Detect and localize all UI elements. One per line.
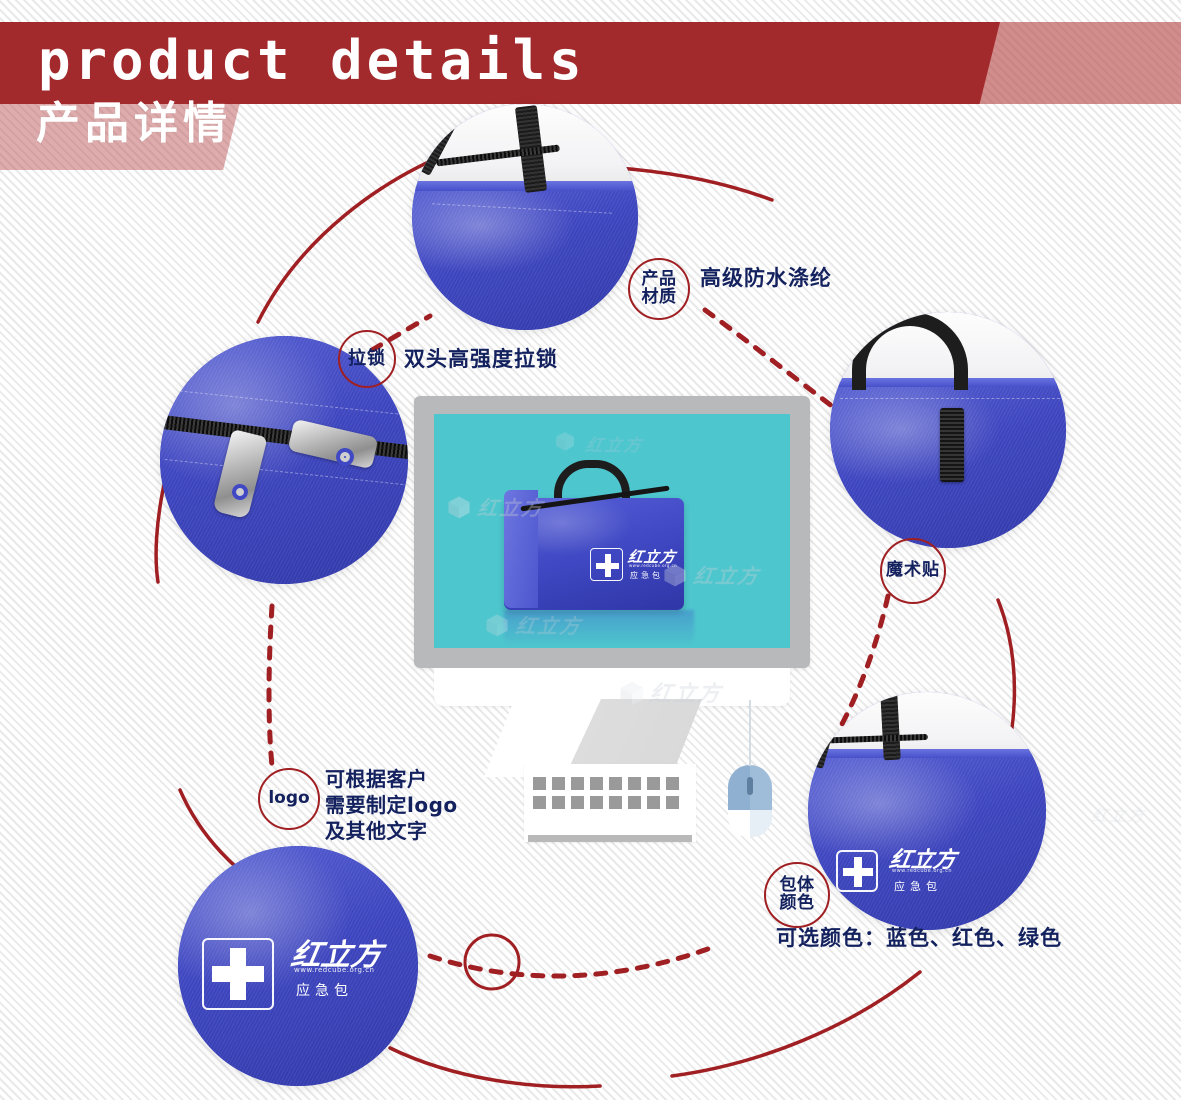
- brand-url: www.redcube.org.cn: [892, 868, 952, 874]
- medical-cross-icon: [836, 850, 878, 892]
- callout-text-material: 高级防水涤纶: [700, 268, 832, 289]
- mouse-right-button: [750, 765, 772, 810]
- keyboard-key: [552, 777, 565, 790]
- brand-subtitle: 应急包: [894, 878, 942, 894]
- handle-strap-right: [880, 692, 901, 760]
- keyboard-key: [533, 777, 546, 790]
- keyboard-key: [647, 777, 660, 790]
- keyboard-key: [571, 777, 584, 790]
- mouse-body-right: [750, 810, 772, 837]
- callout-text-logo-line2: 需要制定logo: [325, 792, 485, 818]
- medical-cross-icon: [590, 548, 623, 581]
- callout-text-zipper: 双头高强度拉锁: [404, 349, 558, 370]
- keyboard-key: [666, 777, 679, 790]
- brand-url: www.redcube.org.cn: [629, 563, 677, 568]
- keyboard-key: [666, 796, 679, 809]
- keyboard-key: [590, 796, 603, 809]
- keyboard-base: [528, 835, 692, 842]
- stitch-seam: [840, 398, 1060, 399]
- dash-logo-to-color: [430, 946, 716, 976]
- keyboard-key: [552, 796, 565, 809]
- bag-logo: 红立方 www.redcube.org.cn 应急包: [836, 838, 1022, 898]
- photo-logo-detail: 红立方 www.redcube.org.cn 应急包: [178, 846, 418, 1086]
- callout-bubble-material[interactable]: 产品 材质: [628, 258, 690, 320]
- mouse-body-left: [728, 810, 750, 837]
- callout-bubble-zipper[interactable]: 拉锁: [338, 330, 396, 388]
- watermark: 红立方: [554, 430, 643, 456]
- keyboard-key: [533, 796, 546, 809]
- keyboard-key: [628, 796, 641, 809]
- callout-bubble-velcro[interactable]: 魔术贴: [880, 538, 946, 604]
- bag-top-edge: [808, 749, 1046, 758]
- bag-logo: 红立方 www.redcube.org.cn 应急包: [202, 924, 402, 1004]
- keyboard: [524, 764, 696, 842]
- callout-bubble-logo-label: logo: [268, 790, 309, 808]
- computer-monitor: 红立方 www.redcube.org.cn 应急包 红立方 红立方: [414, 396, 810, 696]
- fabric-texture: [412, 185, 638, 330]
- brand-subtitle: 应急包: [296, 980, 353, 1000]
- brand-subtitle: 应急包: [630, 570, 663, 581]
- mouse-scroll-wheel: [747, 777, 753, 795]
- callout-bubble-logo[interactable]: logo: [258, 768, 320, 830]
- arc-upper-right: [618, 168, 772, 200]
- mouse-cable: [749, 700, 751, 766]
- product-details-page: product details 产品详情: [0, 0, 1181, 1100]
- brand-url: www.redcube.org.cn: [294, 966, 374, 974]
- dash-zipper-to-logo: [269, 606, 272, 766]
- keyboard-key: [609, 796, 622, 809]
- cube-icon: [554, 430, 580, 456]
- keyboard-key: [571, 796, 584, 809]
- medical-cross-icon: [202, 938, 274, 1010]
- bag-reflection: [504, 610, 694, 646]
- keyboard-key: [647, 796, 660, 809]
- bag-logo: 红立方 www.redcube.org.cn 应急包: [590, 546, 682, 584]
- photo-velcro-detail: [830, 312, 1066, 548]
- keyboard-key: [590, 777, 603, 790]
- arc-bottom-left: [390, 1048, 600, 1087]
- callout-bubble-material-line2: 材质: [642, 289, 677, 307]
- keyboard-key: [628, 777, 641, 790]
- keyboard-keys: [533, 777, 685, 809]
- decorative-circle: [465, 935, 519, 989]
- callout-bubble-velcro-label: 魔术贴: [886, 562, 940, 580]
- monitor-screen: 红立方 www.redcube.org.cn 应急包 红立方 红立方: [434, 414, 790, 648]
- mouse: [728, 765, 772, 837]
- callout-text-logo: 可根据客户 需要制定logo 及其他文字: [325, 766, 485, 844]
- velcro-strip: [940, 408, 964, 482]
- watermark-text: 红立方: [692, 560, 762, 589]
- photo-material-detail: [412, 104, 638, 330]
- callout-bubble-body-color[interactable]: 包体 颜色: [764, 862, 830, 928]
- keyboard-key: [609, 777, 622, 790]
- callout-bubble-zipper-label: 拉锁: [348, 350, 386, 369]
- callout-text-logo-line3: 及其他文字: [325, 818, 485, 844]
- product-bag-photo: 红立方 www.redcube.org.cn 应急包: [504, 460, 694, 610]
- callout-text-body-color: 可选颜色：蓝色、红色、绿色: [776, 928, 1062, 949]
- watermark-text: 红立方: [584, 431, 645, 456]
- cube-icon: [446, 494, 472, 520]
- callout-text-logo-line1: 可根据客户: [325, 766, 485, 792]
- callout-bubble-body-color-line2: 颜色: [780, 895, 815, 913]
- photo-body-color-detail: 红立方 www.redcube.org.cn 应急包: [808, 692, 1046, 930]
- photo-background: [808, 692, 1046, 754]
- arc-bottom-right: [672, 972, 920, 1076]
